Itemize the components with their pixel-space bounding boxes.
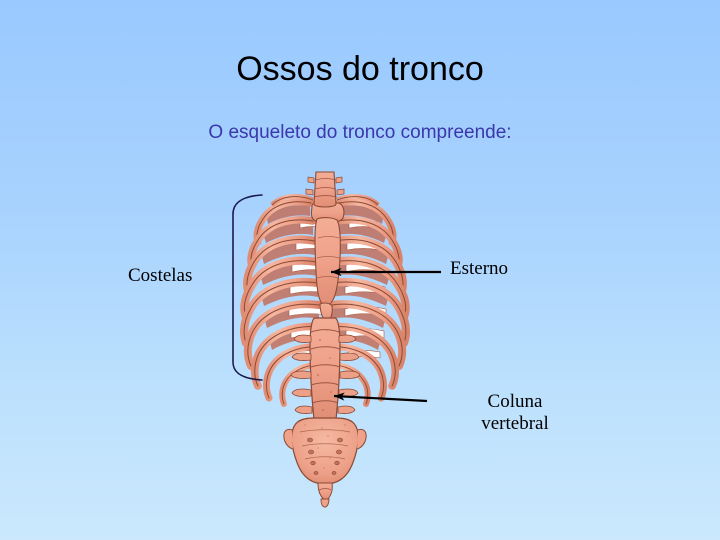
label-esterno: Esterno	[450, 258, 508, 280]
label-coluna-line2: vertebral	[445, 413, 585, 435]
label-costelas: Costelas	[128, 265, 192, 287]
coccyx	[318, 483, 332, 507]
trunk-skeleton-illustration	[0, 0, 720, 540]
label-coluna-line1: Coluna	[488, 391, 543, 412]
slide-canvas: Ossos do tronco O esqueleto do tronco co…	[0, 0, 720, 540]
sacrum	[284, 418, 366, 484]
label-coluna-vertebral: Coluna vertebral	[445, 391, 585, 435]
